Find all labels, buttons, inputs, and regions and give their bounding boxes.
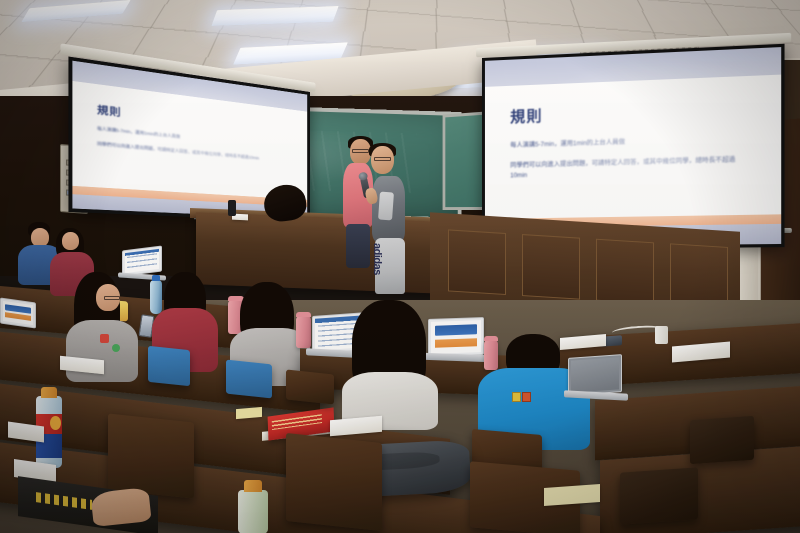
chair[interactable] xyxy=(108,413,194,498)
chair[interactable] xyxy=(620,467,698,524)
sweater-patch xyxy=(100,334,109,343)
slide-right: 規則 每人演講5-7min，運用1min的上台人員做 同學們可以向進入提出問題，… xyxy=(485,47,781,247)
bottle-cap xyxy=(41,387,57,398)
bottle-cap xyxy=(152,275,160,281)
glasses-icon xyxy=(352,149,369,153)
chair-with-blue-cover[interactable] xyxy=(148,346,190,386)
shirt-sticker xyxy=(522,392,531,402)
chair[interactable] xyxy=(286,433,382,531)
head xyxy=(350,139,371,165)
adidas-brand-text: adidas xyxy=(371,243,383,275)
paper-cup xyxy=(655,326,668,344)
chair[interactable] xyxy=(690,416,754,464)
thermos-pink-2 xyxy=(296,316,311,348)
chair-with-blue-cover[interactable] xyxy=(226,360,272,399)
glasses-icon xyxy=(374,157,391,161)
legs xyxy=(346,224,370,268)
head xyxy=(371,146,394,174)
chair[interactable] xyxy=(286,369,334,404)
bottle-blue-tea xyxy=(150,280,162,314)
marker-on-podium xyxy=(228,200,236,216)
slide-title: 規則 xyxy=(510,97,753,127)
bottle-foreground xyxy=(238,490,268,533)
classroom-photo: 規則 每人演講5-7min，運用1min的上台人員做 同學們可以向進入提出問題，… xyxy=(0,0,800,533)
glasses-icon xyxy=(104,296,120,300)
head xyxy=(62,232,79,250)
bottle-label-fruit xyxy=(50,416,61,430)
bottle-cap xyxy=(244,480,262,492)
thermos-pink-3 xyxy=(484,340,498,370)
slide-body-line-1: 每人演講5-7min，運用1min的上台人員做 xyxy=(510,134,753,151)
sweatshirt-graphic xyxy=(378,192,394,221)
sweater-patch xyxy=(112,344,120,352)
slide-body-line-2: 同學們可以向進入提出問題，可請特定人回答，或其中幾位同學，總時長不超過10min xyxy=(510,155,753,180)
shirt-sticker xyxy=(512,392,521,402)
